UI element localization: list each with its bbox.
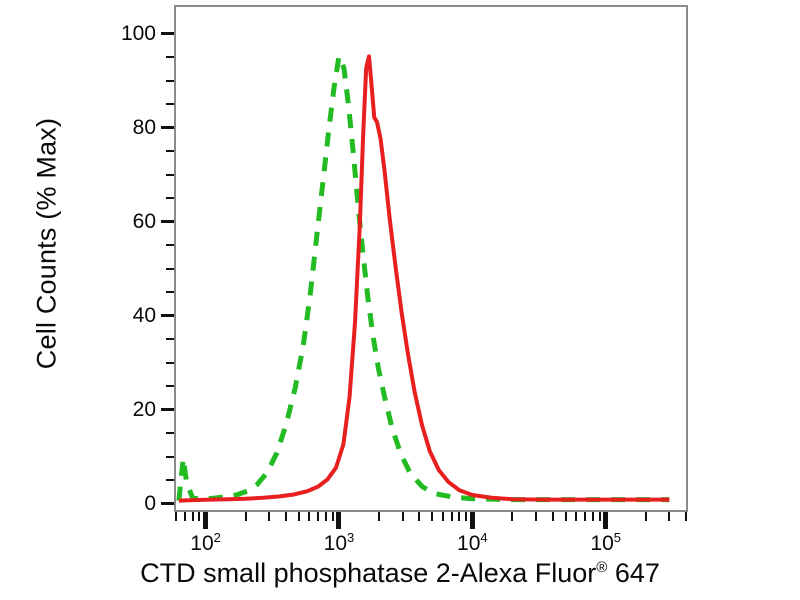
- x-axis-minor-tick: [184, 512, 186, 521]
- y-axis-minor-tick: [166, 338, 174, 340]
- x-axis-minor-tick: [378, 512, 380, 521]
- x-axis-title-lead: CTD small phosphatase 2-Alexa Fluor: [140, 558, 596, 588]
- x-axis-title: CTD small phosphatase 2-Alexa Fluor® 647: [0, 558, 800, 589]
- x-axis-minor-tick: [592, 512, 594, 521]
- x-axis-minor-tick: [431, 512, 433, 521]
- series-anti-CTDSP2-Alexa-Fluor-647: [179, 56, 670, 500]
- y-axis-minor-tick: [166, 174, 174, 176]
- y-axis-tick-label: 60: [133, 210, 156, 234]
- x-axis-minor-tick: [465, 512, 467, 521]
- x-axis-minor-tick: [268, 512, 270, 521]
- x-tick-exponent: 5: [614, 530, 621, 545]
- y-axis-minor-tick: [166, 432, 174, 434]
- x-axis-minor-tick: [192, 512, 194, 521]
- x-axis-minor-tick: [575, 512, 577, 521]
- x-axis-tick-label: 102: [190, 530, 221, 556]
- y-axis-minor-tick: [166, 291, 174, 293]
- y-axis-minor-tick: [166, 268, 174, 270]
- x-axis-minor-tick: [175, 512, 177, 521]
- x-tick-mantissa: 10: [590, 532, 613, 555]
- x-axis-minor-tick: [298, 512, 300, 521]
- x-axis-minor-tick: [458, 512, 460, 521]
- x-axis-minor-tick: [599, 512, 601, 521]
- x-axis-tick-label: 104: [457, 530, 488, 556]
- x-axis-minor-tick: [285, 512, 287, 521]
- x-axis-minor-tick: [685, 512, 687, 521]
- y-axis-tick-label: 20: [133, 398, 156, 422]
- y-axis-major-tick: [161, 314, 174, 317]
- y-axis-tick-label: 100: [121, 22, 156, 46]
- y-axis-title: Cell Counts (% Max): [32, 34, 63, 454]
- x-axis-minor-tick: [442, 512, 444, 521]
- y-axis-major-tick: [161, 408, 174, 411]
- x-axis-major-tick: [203, 512, 208, 529]
- x-axis-minor-tick: [511, 512, 513, 521]
- x-axis-minor-tick: [245, 512, 247, 521]
- y-axis-minor-tick: [166, 244, 174, 246]
- x-axis-minor-tick: [418, 512, 420, 521]
- x-tick-mantissa: 10: [457, 532, 480, 555]
- x-axis-tick-label: 103: [324, 530, 355, 556]
- plot-area: [174, 5, 688, 512]
- x-axis-tick-labels: 102103104105: [174, 530, 688, 560]
- x-axis-tick-label: 105: [590, 530, 621, 556]
- x-axis-minor-tick: [402, 512, 404, 521]
- y-axis-minor-tick: [166, 197, 174, 199]
- x-axis-minor-tick: [317, 512, 319, 521]
- y-axis-minor-tick: [166, 479, 174, 481]
- x-axis-major-tick: [470, 512, 475, 529]
- x-tick-exponent: 2: [214, 530, 221, 545]
- registered-mark-icon: ®: [596, 559, 607, 576]
- x-axis-major-tick: [336, 512, 341, 529]
- y-axis-minor-tick: [166, 456, 174, 458]
- y-axis-minor-tick: [166, 80, 174, 82]
- x-axis-ticks: [174, 512, 688, 532]
- x-axis-minor-tick: [645, 512, 647, 521]
- y-axis-minor-tick: [166, 150, 174, 152]
- x-axis-minor-tick: [308, 512, 310, 521]
- y-axis-tick-label: 40: [133, 304, 156, 328]
- x-axis-title-tail: 647: [615, 558, 660, 588]
- x-tick-exponent: 3: [347, 530, 354, 545]
- y-axis-major-tick: [161, 32, 174, 35]
- x-axis-minor-tick: [552, 512, 554, 521]
- x-axis-minor-tick: [325, 512, 327, 521]
- flow-cytometry-figure: Cell Counts (% Max) 020406080100 1021031…: [0, 0, 800, 600]
- y-axis-tick-label: 80: [133, 116, 156, 140]
- x-axis-minor-tick: [565, 512, 567, 521]
- y-axis-major-tick: [161, 126, 174, 129]
- x-tick-mantissa: 10: [324, 532, 347, 555]
- y-axis-minor-tick: [166, 103, 174, 105]
- x-axis-minor-tick: [332, 512, 334, 521]
- x-tick-mantissa: 10: [190, 532, 213, 555]
- x-axis-minor-tick: [535, 512, 537, 521]
- y-axis-minor-tick: [166, 56, 174, 58]
- y-axis-minor-tick: [166, 385, 174, 387]
- x-axis-minor-tick: [668, 512, 670, 521]
- x-axis-minor-tick: [451, 512, 453, 521]
- y-axis-tick-label: 0: [144, 492, 156, 516]
- x-axis-minor-tick: [198, 512, 200, 521]
- curve-layer: [176, 7, 686, 510]
- y-axis-major-tick: [161, 502, 174, 505]
- y-axis-minor-tick: [166, 362, 174, 364]
- y-axis-major-tick: [161, 220, 174, 223]
- x-tick-exponent: 4: [480, 530, 487, 545]
- x-axis-minor-tick: [584, 512, 586, 521]
- x-axis-major-tick: [603, 512, 608, 529]
